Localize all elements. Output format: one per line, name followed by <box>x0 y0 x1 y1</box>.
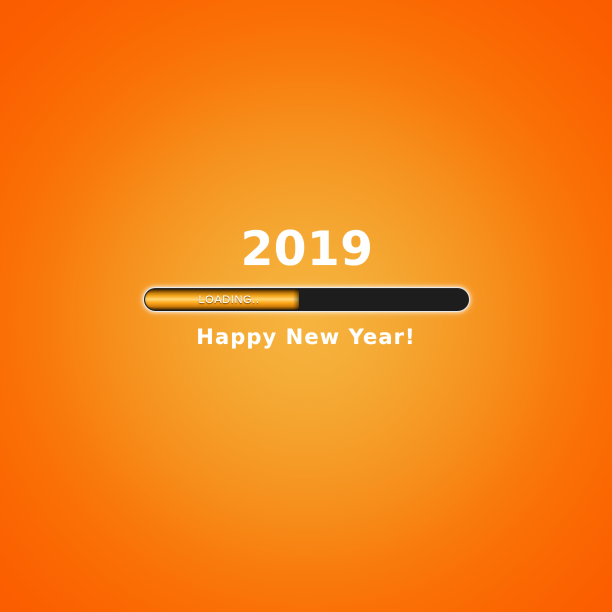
center-content: 2019 LOADING.. Happy New Year! <box>0 226 612 348</box>
new-year-loading-screen: 2019 LOADING.. Happy New Year! <box>0 0 612 612</box>
loading-bar: LOADING.. <box>143 287 470 312</box>
loading-bar-fill <box>145 289 299 310</box>
year-title: 2019 <box>0 226 612 273</box>
greeting-text: Happy New Year! <box>0 327 612 348</box>
loading-bar-track <box>143 287 470 312</box>
